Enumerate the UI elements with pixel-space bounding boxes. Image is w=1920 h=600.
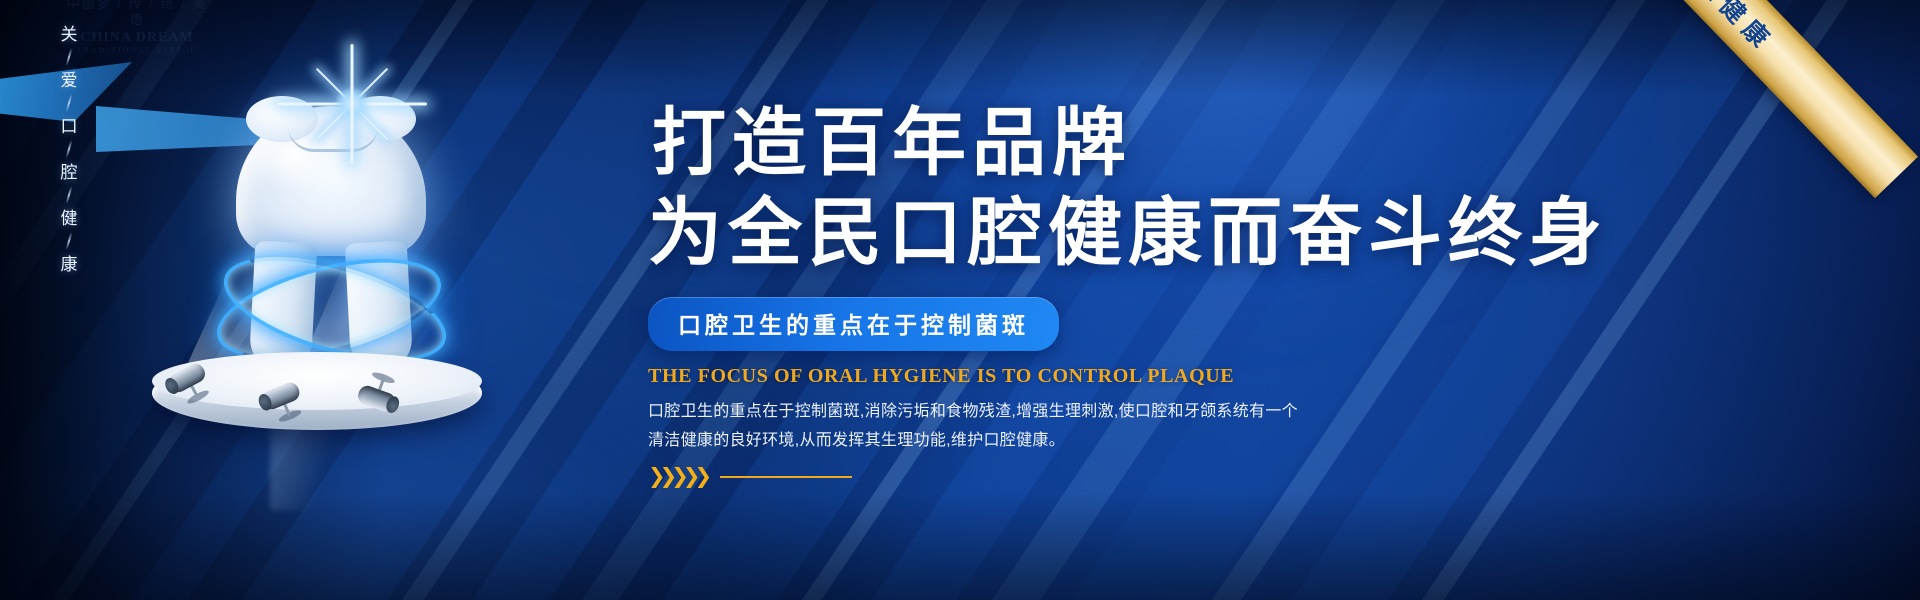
description-line2: 清洁健康的良好环境,从而发挥其生理功能,维护口腔健康。 [648,426,1408,456]
slogan-divider-icon [65,140,72,158]
description-line1: 口腔卫生的重点在于控制菌斑,消除污垢和食物残渣,增强生理刺激,使口腔和牙颌系统有… [648,397,1408,427]
chevron-decoration: ❯ ❯ ❯ ❯ ❯ [648,466,1748,487]
vertical-slogan-char: 口 [61,118,78,135]
slogan-divider-icon [65,186,72,204]
vertical-slogan-char: 爱 [61,72,78,89]
vertical-slogan-char: 健 [61,210,78,227]
content-block: 打造百年品牌 为全民口腔健康而奋斗终身 口腔卫生的重点在于控制菌斑 THE FO… [648,104,1748,487]
left-vertical-slogan: 关 爱 口 腔 健 康 [52,26,86,278]
chevron-right-icon: ❯ [694,466,712,487]
slogan-divider-icon [65,94,72,112]
vertical-slogan-char: 腔 [61,164,78,181]
english-subtitle: THE FOCUS OF ORAL HYGIENE IS TO CONTROL … [648,365,1748,388]
tooth-illustration [120,70,520,450]
description-paragraph: 口腔卫生的重点在于控制菌斑,消除污垢和食物残渣,增强生理刺激,使口腔和牙颌系统有… [648,397,1408,456]
vertical-slogan-char: 康 [61,256,78,273]
slogan-badge: 口腔卫生的重点在于控制菌斑 [648,297,1059,351]
slogan-divider-icon [65,48,72,66]
sparkle-core [335,87,369,121]
sparkle-icon [282,34,422,174]
headline-line2: 为全民口腔健康而奋斗终身 [648,194,1748,272]
vertical-slogan-char: 关 [61,26,78,43]
slogan-divider-icon [65,232,72,250]
dental-promo-banner: 中国梦 / 传 / 统 / 美德 CHINA DREAM TRADITIONAL… [0,0,1920,600]
gold-rule [720,476,852,478]
headline-line1: 打造百年品牌 [652,104,1748,182]
